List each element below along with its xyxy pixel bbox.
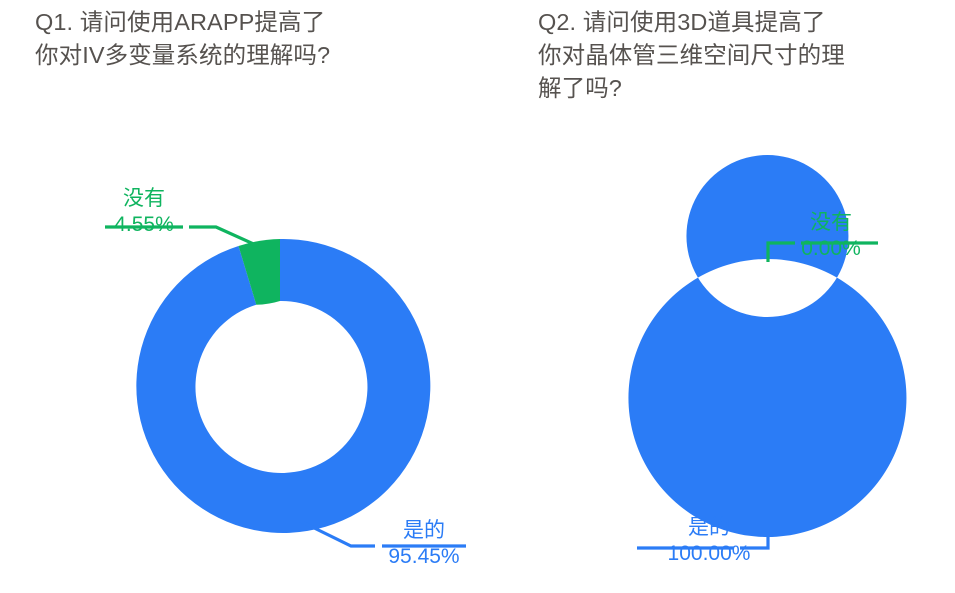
donut-chart-q2 [500,0,955,593]
data-label-yes-q1-value: 95.45% [382,544,466,570]
data-label-no-q2: 没有 0.00% [791,210,871,262]
data-label-no-q2-name: 没有 [791,210,871,236]
data-label-yes-q1-name: 是的 [382,518,466,544]
data-label-yes-q2-name: 是的 [655,515,763,541]
chart-panel-q1: Q1. 请问使用ARAPP提高了 你对IV多变量系统的理解吗? 没有 4.55% [0,0,500,593]
data-label-no-q1: 没有 4.55% [104,186,184,238]
data-label-no-q2-value: 0.00% [791,236,871,262]
data-label-yes-q1: 是的 95.45% [382,518,466,570]
data-label-no-q1-value: 4.55% [104,212,184,238]
data-label-yes-q2-value: 100.00% [655,541,763,567]
donut-chart-q1 [0,0,500,593]
data-label-no-q1-name: 没有 [104,186,184,212]
survey-results-canvas: Q1. 请问使用ARAPP提高了 你对IV多变量系统的理解吗? 没有 4.55% [0,0,955,593]
donut-slice-yes-q1[interactable] [136,239,430,533]
chart-panel-q2: Q2. 请问使用3D道具提高了 你对晶体管三维空间尺寸的理 解了吗? 没有 0.… [500,0,955,593]
data-label-yes-q2: 是的 100.00% [655,515,763,567]
